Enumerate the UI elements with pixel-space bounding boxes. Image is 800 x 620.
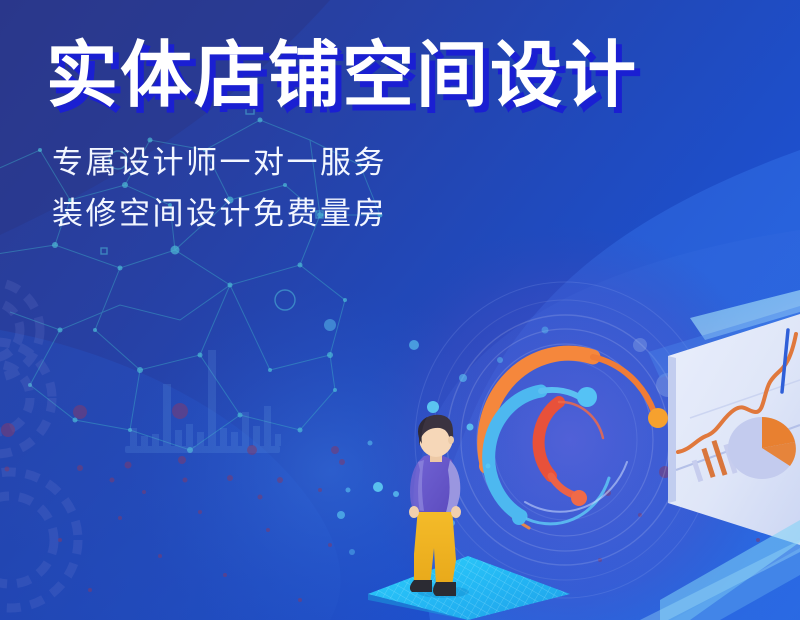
subtitle-line-2: 装修空间设计免费量房 (52, 198, 638, 229)
page-title: 实体店铺空间设计 (46, 40, 638, 113)
subtitle-list: 专属设计师一对一服务 装修空间设计免费量房 (46, 147, 638, 229)
promo-banner: 实体店铺空间设计 专属设计师一对一服务 装修空间设计免费量房 (0, 0, 800, 620)
isometric-platform (368, 556, 570, 620)
subtitle-line-1: 专属设计师一对一服务 (52, 147, 638, 178)
text-block: 实体店铺空间设计 专属设计师一对一服务 装修空间设计免费量房 (46, 40, 638, 249)
person-figure (409, 415, 461, 596)
